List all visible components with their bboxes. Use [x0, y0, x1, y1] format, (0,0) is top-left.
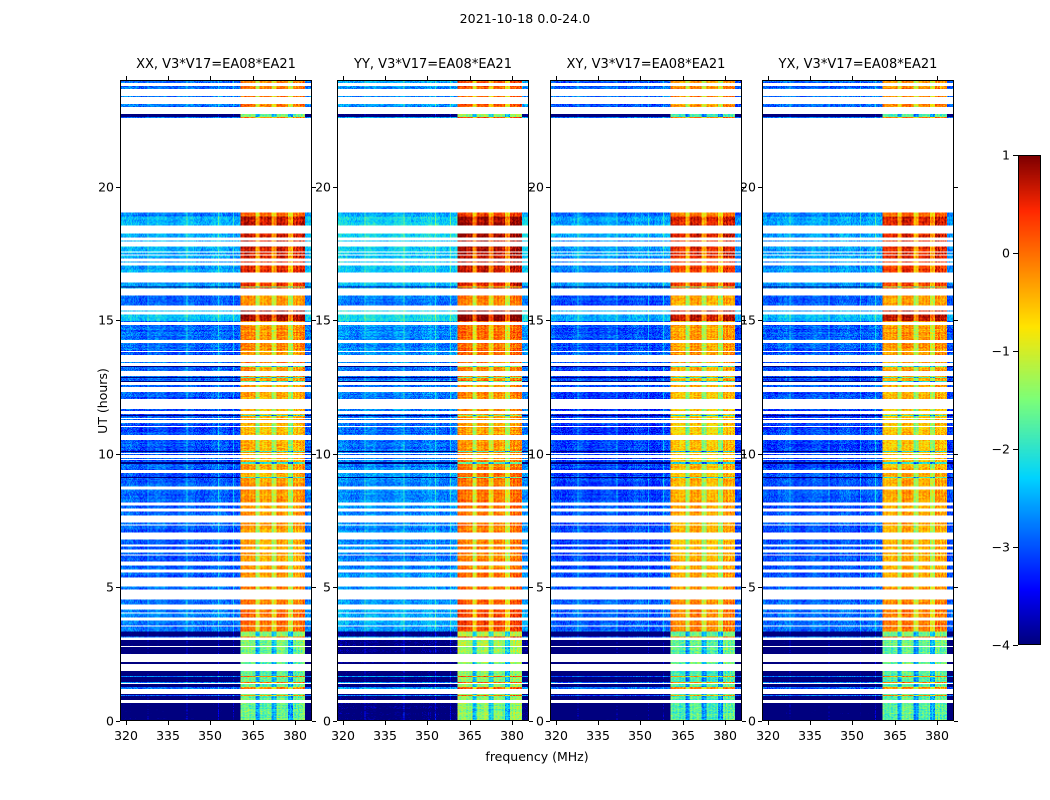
x-tick	[810, 721, 811, 725]
y-tick	[116, 454, 120, 455]
x-tick-label: 365	[671, 728, 695, 743]
y-tick-label: 0	[303, 714, 331, 729]
x-tick-label: 320	[331, 728, 355, 743]
x-tick	[937, 721, 938, 725]
colorbar-tick	[1013, 645, 1018, 646]
x-tick	[385, 721, 386, 725]
x-tick-label: 350	[628, 728, 652, 743]
x-tick	[512, 721, 513, 725]
x-tick-label: 335	[798, 728, 822, 743]
x-tick-label: 350	[415, 728, 439, 743]
x-tick-label: 335	[373, 728, 397, 743]
x-tick	[253, 721, 254, 725]
colorbar-tick-label: −2	[974, 442, 1010, 457]
x-tick-label: 380	[713, 728, 737, 743]
x-tick	[470, 721, 471, 725]
x-tick-label: 350	[840, 728, 864, 743]
spectrum-panel-yy[interactable]	[337, 80, 529, 721]
x-tick-top	[512, 76, 513, 80]
y-tick-label: 15	[516, 313, 544, 328]
x-tick-top	[598, 76, 599, 80]
x-tick	[895, 721, 896, 725]
figure-suptitle: 2021-10-18 0.0-24.0	[0, 11, 1050, 26]
y-tick-label: 15	[303, 313, 331, 328]
y-tick-label: 15	[86, 313, 114, 328]
y-tick-label: 20	[303, 180, 331, 195]
y-tick	[116, 587, 120, 588]
x-tick-label: 320	[756, 728, 780, 743]
y-tick	[116, 187, 120, 188]
colorbar-tick-label: 0	[974, 246, 1010, 261]
y-tick-label: 0	[516, 714, 544, 729]
colorbar-tick-label: −3	[974, 540, 1010, 555]
y-tick	[546, 587, 550, 588]
colorbar-tick	[1013, 351, 1018, 352]
x-tick	[427, 721, 428, 725]
y-tick-label: 5	[303, 580, 331, 595]
x-tick-top	[810, 76, 811, 80]
y-tick-label: 10	[86, 447, 114, 462]
x-tick	[725, 721, 726, 725]
x-tick-top	[427, 76, 428, 80]
y-tick	[116, 320, 120, 321]
y-tick-label: 0	[728, 714, 756, 729]
x-tick	[640, 721, 641, 725]
colorbar-tick-label: −4	[974, 638, 1010, 653]
y-tick-label: 10	[303, 447, 331, 462]
y-tick-label: 20	[86, 180, 114, 195]
x-tick-top	[852, 76, 853, 80]
y-tick-right	[954, 454, 958, 455]
y-tick	[333, 454, 337, 455]
x-tick-label: 320	[114, 728, 138, 743]
x-tick-top	[168, 76, 169, 80]
x-tick-label: 365	[883, 728, 907, 743]
y-tick	[758, 454, 762, 455]
y-tick	[546, 320, 550, 321]
x-tick	[295, 721, 296, 725]
y-tick-label: 20	[728, 180, 756, 195]
y-tick	[546, 187, 550, 188]
x-tick-top	[210, 76, 211, 80]
y-tick-label: 5	[728, 580, 756, 595]
y-tick	[333, 320, 337, 321]
x-tick-top	[385, 76, 386, 80]
x-tick-top	[683, 76, 684, 80]
x-tick-top	[556, 76, 557, 80]
x-tick	[210, 721, 211, 725]
x-tick	[768, 721, 769, 725]
y-tick	[758, 587, 762, 588]
x-tick	[556, 721, 557, 725]
spectrum-raster	[338, 81, 528, 720]
x-tick-label: 380	[283, 728, 307, 743]
y-tick	[758, 320, 762, 321]
colorbar-tick-label: 1	[974, 148, 1010, 163]
x-tick-label: 350	[198, 728, 222, 743]
x-tick-label: 380	[925, 728, 949, 743]
x-tick-label: 380	[500, 728, 524, 743]
x-tick-label: 365	[241, 728, 265, 743]
panel-title-xy: XY, V3*V17=EA08*EA21	[567, 57, 726, 72]
y-tick-label: 10	[728, 447, 756, 462]
x-tick	[343, 721, 344, 725]
x-tick-label: 365	[458, 728, 482, 743]
y-tick	[333, 187, 337, 188]
x-tick-top	[253, 76, 254, 80]
y-tick	[116, 721, 120, 722]
y-tick-right	[954, 187, 958, 188]
y-tick-right	[954, 721, 958, 722]
x-tick-label: 320	[544, 728, 568, 743]
raster-layer	[551, 81, 741, 720]
x-tick-label: 335	[586, 728, 610, 743]
spectrum-panel-xx[interactable]	[120, 80, 312, 721]
panel-title-yx: YX, V3*V17=EA08*EA21	[779, 57, 938, 72]
raster-layer	[338, 81, 528, 720]
x-axis-label: frequency (MHz)	[485, 749, 588, 764]
colorbar-tick	[1013, 547, 1018, 548]
x-tick-top	[725, 76, 726, 80]
x-tick-top	[126, 76, 127, 80]
raster-layer	[121, 81, 311, 720]
y-tick-label: 0	[86, 714, 114, 729]
y-tick-label: 10	[516, 447, 544, 462]
x-tick-label: 335	[156, 728, 180, 743]
x-tick	[126, 721, 127, 725]
y-tick-right	[954, 587, 958, 588]
y-tick-label: 5	[516, 580, 544, 595]
spectrum-panel-yx[interactable]	[762, 80, 954, 721]
y-tick-label: 20	[516, 180, 544, 195]
x-tick	[683, 721, 684, 725]
colorbar-tick	[1013, 253, 1018, 254]
x-tick	[852, 721, 853, 725]
spectrum-raster	[121, 81, 311, 720]
spectrum-raster	[763, 81, 953, 720]
colorbar-gradient	[1019, 156, 1040, 644]
y-tick	[758, 187, 762, 188]
x-tick-top	[895, 76, 896, 80]
y-tick-label: 15	[728, 313, 756, 328]
x-tick-top	[470, 76, 471, 80]
colorbar-tick	[1013, 449, 1018, 450]
x-tick	[598, 721, 599, 725]
spectrum-raster	[551, 81, 741, 720]
x-tick	[168, 721, 169, 725]
dynamic-spectrum-figure: 2021-10-18 0.0-24.0 XX, V3*V17=EA08*EA21…	[0, 0, 1050, 800]
y-tick-right	[954, 320, 958, 321]
panel-title-yy: YY, V3*V17=EA08*EA21	[354, 57, 512, 72]
y-tick	[333, 587, 337, 588]
x-tick-top	[937, 76, 938, 80]
y-tick	[546, 721, 550, 722]
y-tick	[333, 721, 337, 722]
y-tick	[758, 721, 762, 722]
x-tick-top	[295, 76, 296, 80]
panel-title-xx: XX, V3*V17=EA08*EA21	[136, 57, 296, 72]
colorbar-tick	[1013, 155, 1018, 156]
colorbar[interactable]	[1018, 155, 1041, 645]
x-tick-top	[343, 76, 344, 80]
spectrum-panel-xy[interactable]	[550, 80, 742, 721]
x-tick-top	[640, 76, 641, 80]
x-tick-top	[768, 76, 769, 80]
raster-layer	[763, 81, 953, 720]
y-tick	[546, 454, 550, 455]
colorbar-tick-label: −1	[974, 344, 1010, 359]
y-tick-label: 5	[86, 580, 114, 595]
y-axis-label: UT (hours)	[95, 368, 110, 434]
